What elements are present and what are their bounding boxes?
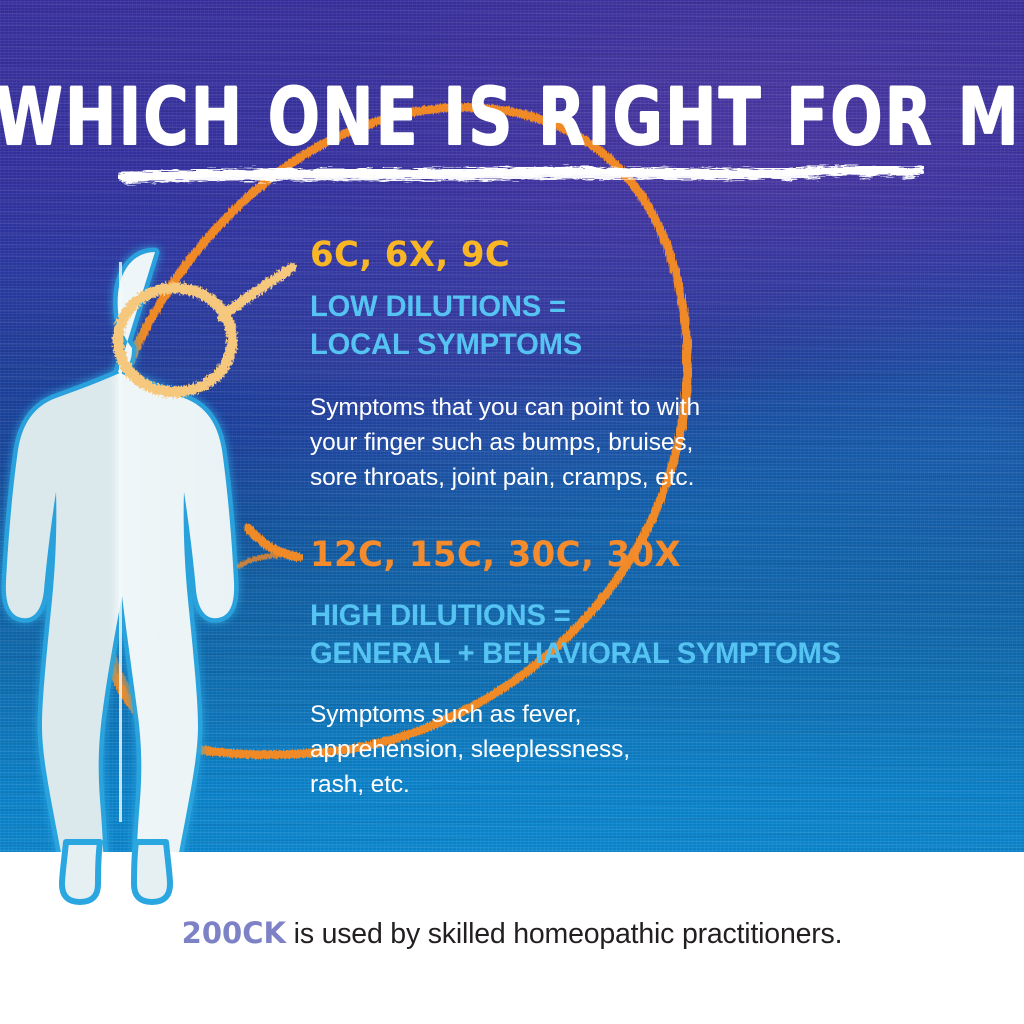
figure-feet-overlay <box>0 0 1024 1024</box>
poster-canvas: WHICH ONE IS RIGHT FOR ME? 6C, 6X, 9C LO… <box>0 0 1024 1024</box>
footnote-text: is used by skilled homeopathic practitio… <box>286 918 842 950</box>
footnote-caption: 200CK is used by skilled homeopathic pra… <box>0 916 1024 951</box>
footnote-code: 200CK <box>182 916 286 950</box>
figure-feet-icon <box>62 842 170 902</box>
